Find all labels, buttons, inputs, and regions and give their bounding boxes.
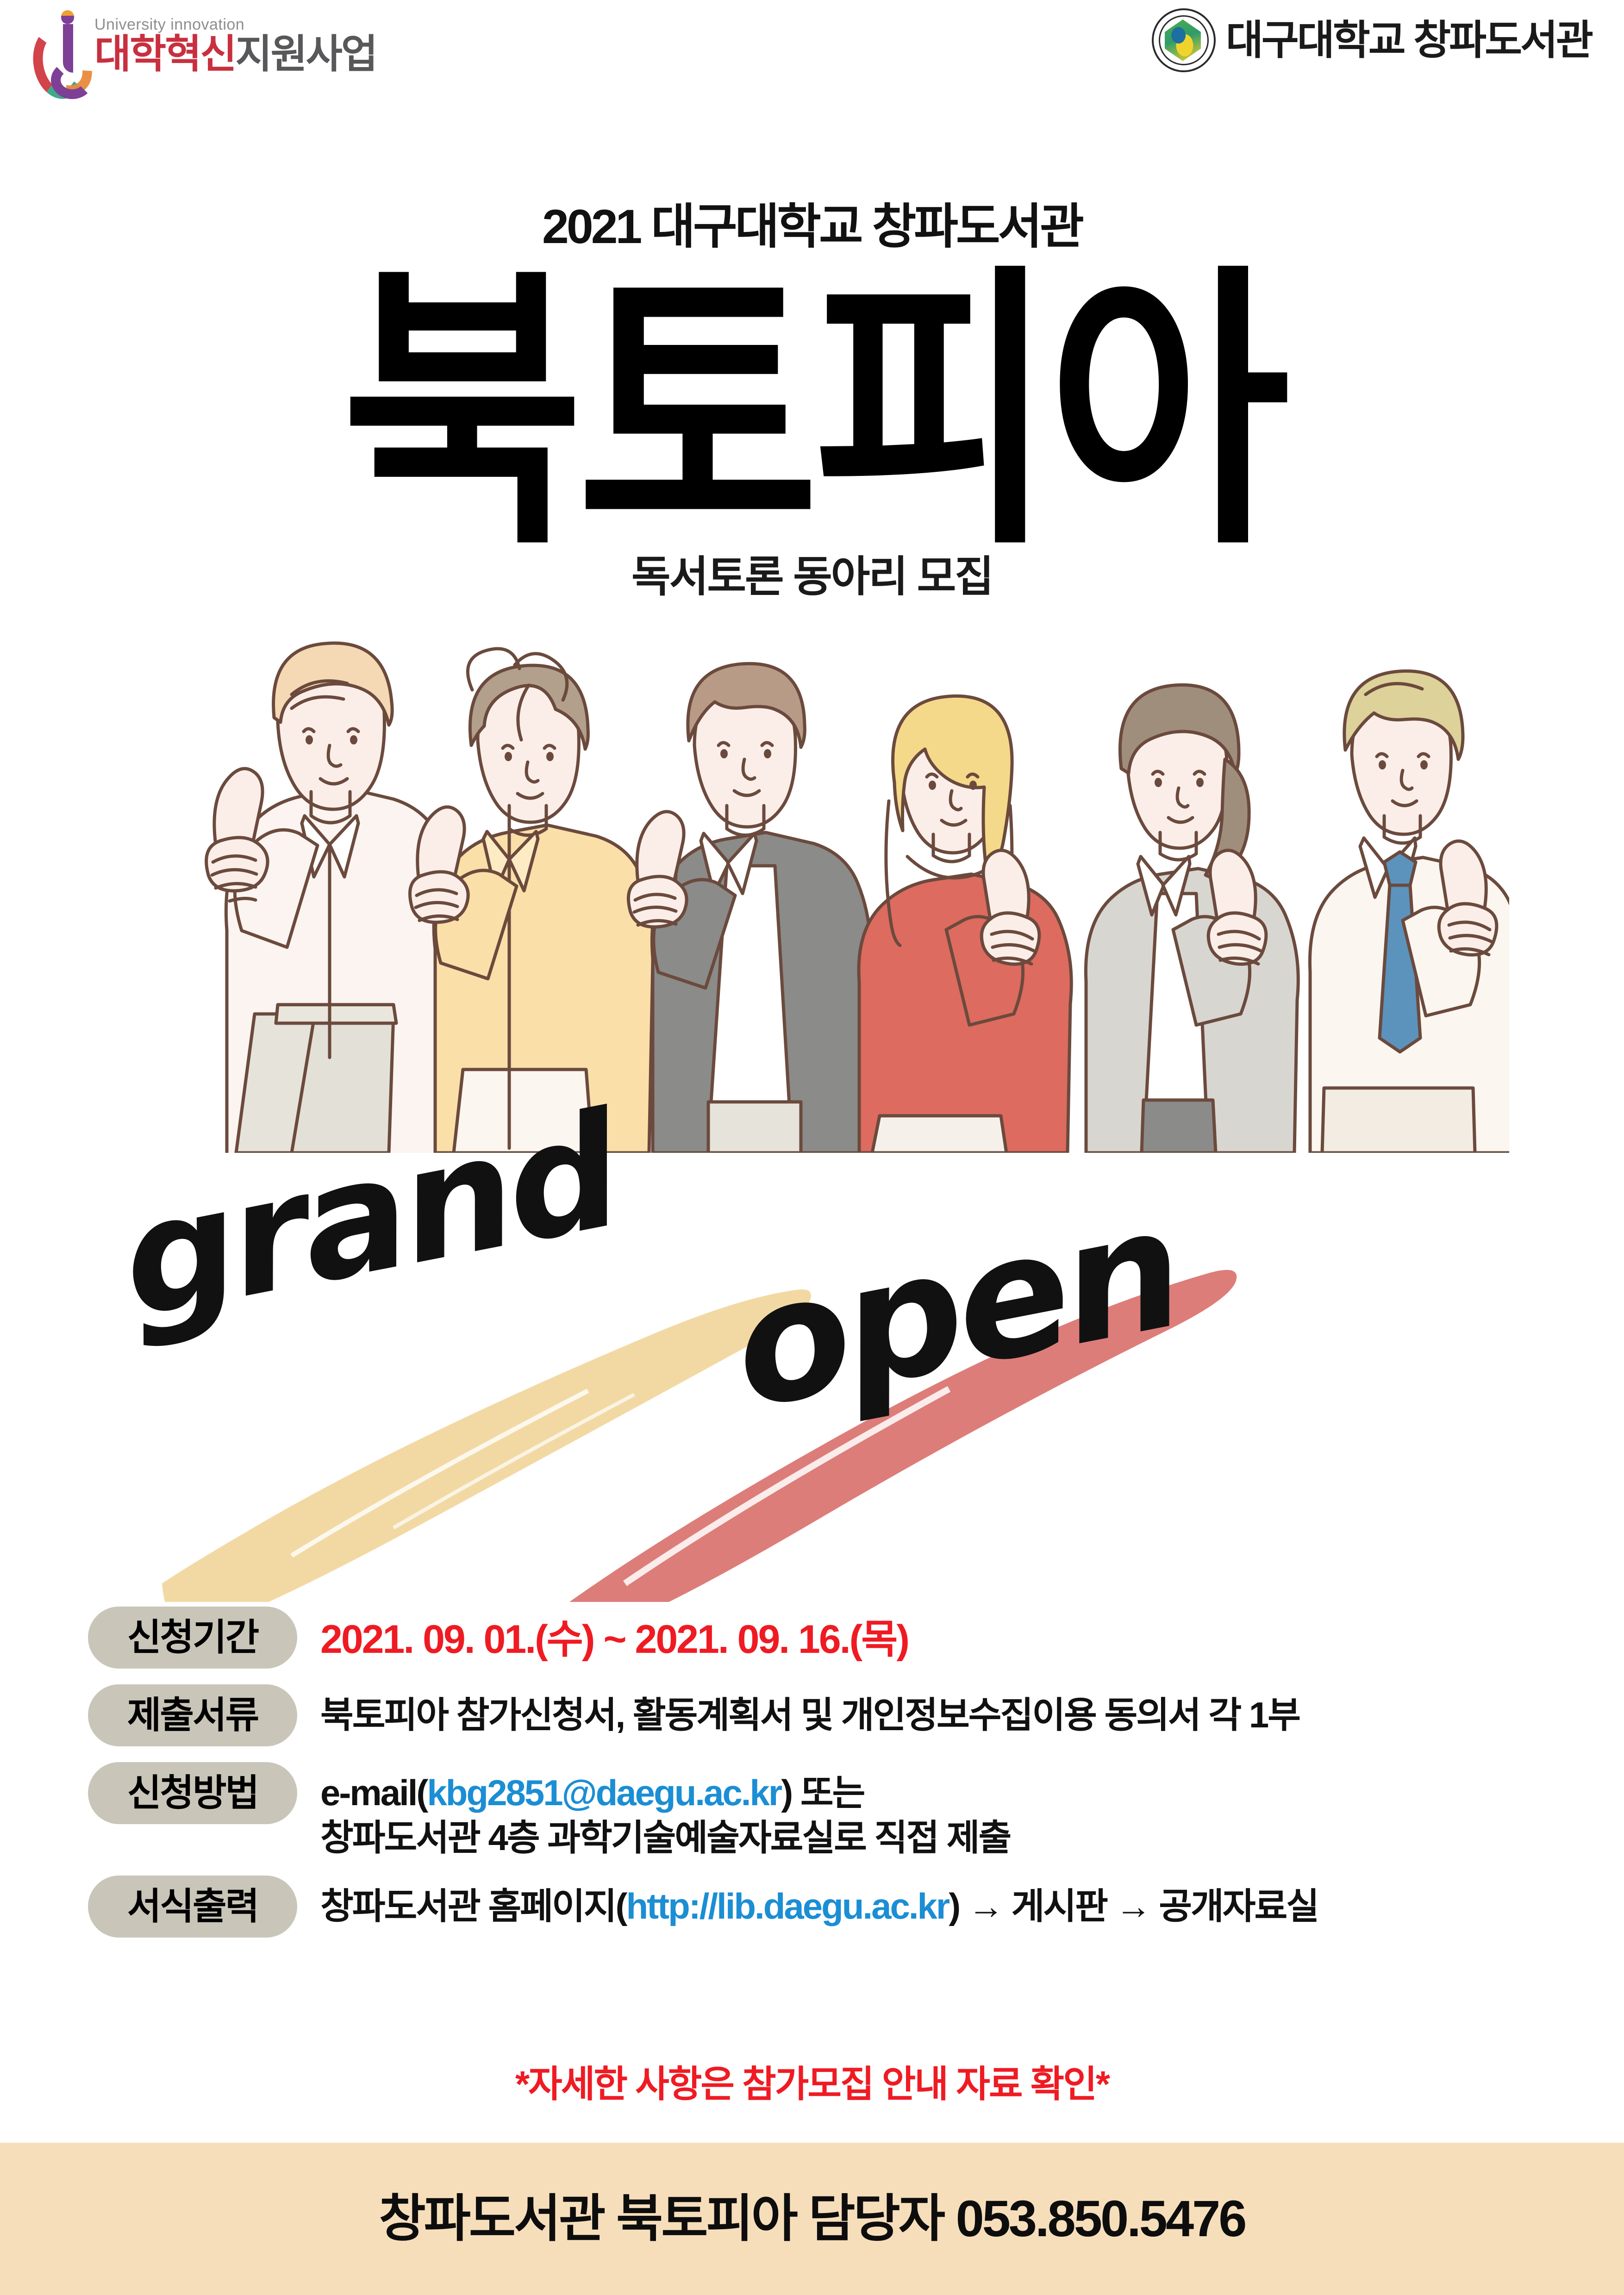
footer-contact-bar: 창파도서관 북토피아 담당자 053.850.5476	[0, 2143, 1624, 2295]
info-row-documents: 제출서류 북토피아 참가신청서, 활동계획서 및 개인정보수집이용 동의서 각 …	[88, 1684, 1560, 1746]
university-innovation-logo: University innovation 대학혁신지원사업	[32, 9, 376, 81]
subtitle: 독서토론 동아리 모집	[0, 556, 1624, 598]
label-documents: 제출서류	[88, 1684, 297, 1746]
uj-mark-icon	[32, 9, 88, 81]
poster-canvas: University innovation 대학혁신지원사업 대구대학교 창파도…	[0, 0, 1624, 2295]
method-post-text: ) 또는	[781, 1772, 864, 1813]
value-application-period: 2021. 09. 01.(수) ~ 2021. 09. 16.(목)	[320, 1607, 908, 1664]
six-people-thumbs-up-illustration	[139, 607, 1509, 1153]
info-row-application-method: 신청방법 e-mail(kbg2851@daegu.ac.kr) 또는 창파도서…	[88, 1762, 1560, 1860]
label-application-period: 신청기간	[88, 1607, 297, 1669]
info-row-form-download: 서식출력 창파도서관 홈페이지(http://lib.daegu.ac.kr) …	[88, 1876, 1560, 1938]
method-line-2: 창파도서관 4층 과학기술예술자료실로 직접 제출	[320, 1815, 1010, 1860]
eyebrow-heading: 2021 대구대학교 창파도서관	[0, 203, 1624, 251]
info-section: 신청기간 2021. 09. 01.(수) ~ 2021. 09. 16.(목)…	[88, 1607, 1560, 1953]
library-logo-label: 대구대학교 창파도서관	[1226, 20, 1592, 61]
detail-notice: *자세한 사항은 참가모집 안내 자료 확인*	[0, 2066, 1624, 2103]
page-title: 북토피아	[0, 265, 1624, 560]
label-application-method: 신청방법	[88, 1762, 297, 1824]
daegu-university-library-logo: 대구대학교 창파도서관	[1152, 8, 1592, 72]
method-pre-text: e-mail(	[320, 1772, 427, 1813]
logo-kor-gray: 지원사업	[235, 32, 376, 76]
method-line-1: e-mail(kbg2851@daegu.ac.kr) 또는	[320, 1770, 1010, 1815]
info-row-application-period: 신청기간 2021. 09. 01.(수) ~ 2021. 09. 16.(목)	[88, 1607, 1560, 1669]
footer-contact-text: 창파도서관 북토피아 담당자 053.850.5476	[379, 2194, 1245, 2245]
daegu-university-seal-icon	[1152, 8, 1216, 72]
value-documents: 북토피아 참가신청서, 활동계획서 및 개인정보수집이용 동의서 각 1부	[320, 1684, 1299, 1738]
logo-kor-red: 대학혁신	[94, 32, 235, 76]
value-form-download: 창파도서관 홈페이지(http://lib.daegu.ac.kr) → 게시판…	[320, 1876, 1318, 1929]
value-application-method: e-mail(kbg2851@daegu.ac.kr) 또는 창파도서관 4층 …	[320, 1762, 1010, 1860]
logo-kor-wordmark: 대학혁신지원사업	[94, 34, 376, 74]
logo-eng-tagline: University innovation	[94, 17, 376, 32]
form-pre-text: 창파도서관 홈페이지(	[320, 1886, 626, 1926]
form-post-text: ) → 게시판 → 공개자료실	[949, 1886, 1318, 1926]
label-form-download: 서식출력	[88, 1876, 297, 1938]
library-website-link[interactable]: http://lib.daegu.ac.kr	[626, 1886, 949, 1926]
email-link[interactable]: kbg2851@daegu.ac.kr	[427, 1772, 781, 1813]
